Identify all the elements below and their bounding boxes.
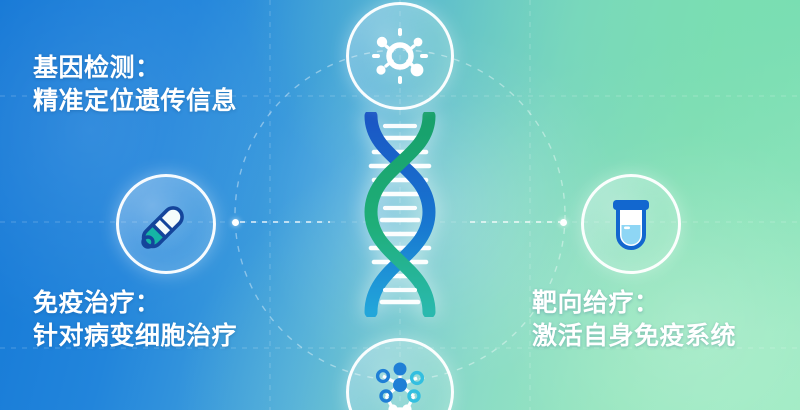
caption-gene-line2: 精准定位遗传信息	[33, 85, 237, 118]
test-tube-icon	[603, 195, 659, 253]
caption-target-line1: 靶向给疗：	[532, 287, 736, 320]
infographic-poster: 基因检测： 精准定位遗传信息 免疫治疗： 针对病变细胞治疗 靶向给疗： 激活自身…	[0, 0, 800, 410]
connector-dot-left	[232, 219, 239, 226]
caption-gene-line1: 基因检测：	[33, 52, 237, 85]
node-gene-detection[interactable]	[346, 2, 454, 110]
virus-molecule-icon	[369, 25, 431, 87]
node-targeted-therapy[interactable]	[581, 174, 681, 274]
caption-gene-detection: 基因检测： 精准定位遗传信息	[33, 52, 237, 118]
caption-immunotherapy: 免疫治疗： 针对病变细胞治疗	[33, 287, 237, 353]
molecular-network-icon	[367, 359, 433, 410]
node-immunotherapy[interactable]	[116, 174, 216, 274]
connector-dot-right	[560, 219, 567, 226]
caption-immuno-line1: 免疫治疗：	[33, 287, 237, 320]
caption-target-line2: 激活自身免疫系统	[532, 320, 736, 353]
caption-targeted-therapy: 靶向给疗： 激活自身免疫系统	[532, 287, 736, 353]
caption-immuno-line2: 针对病变细胞治疗	[33, 320, 237, 353]
dna-helix-icon	[341, 112, 459, 317]
capsule-pill-icon	[137, 195, 195, 253]
node-molecular-network[interactable]	[346, 338, 454, 410]
